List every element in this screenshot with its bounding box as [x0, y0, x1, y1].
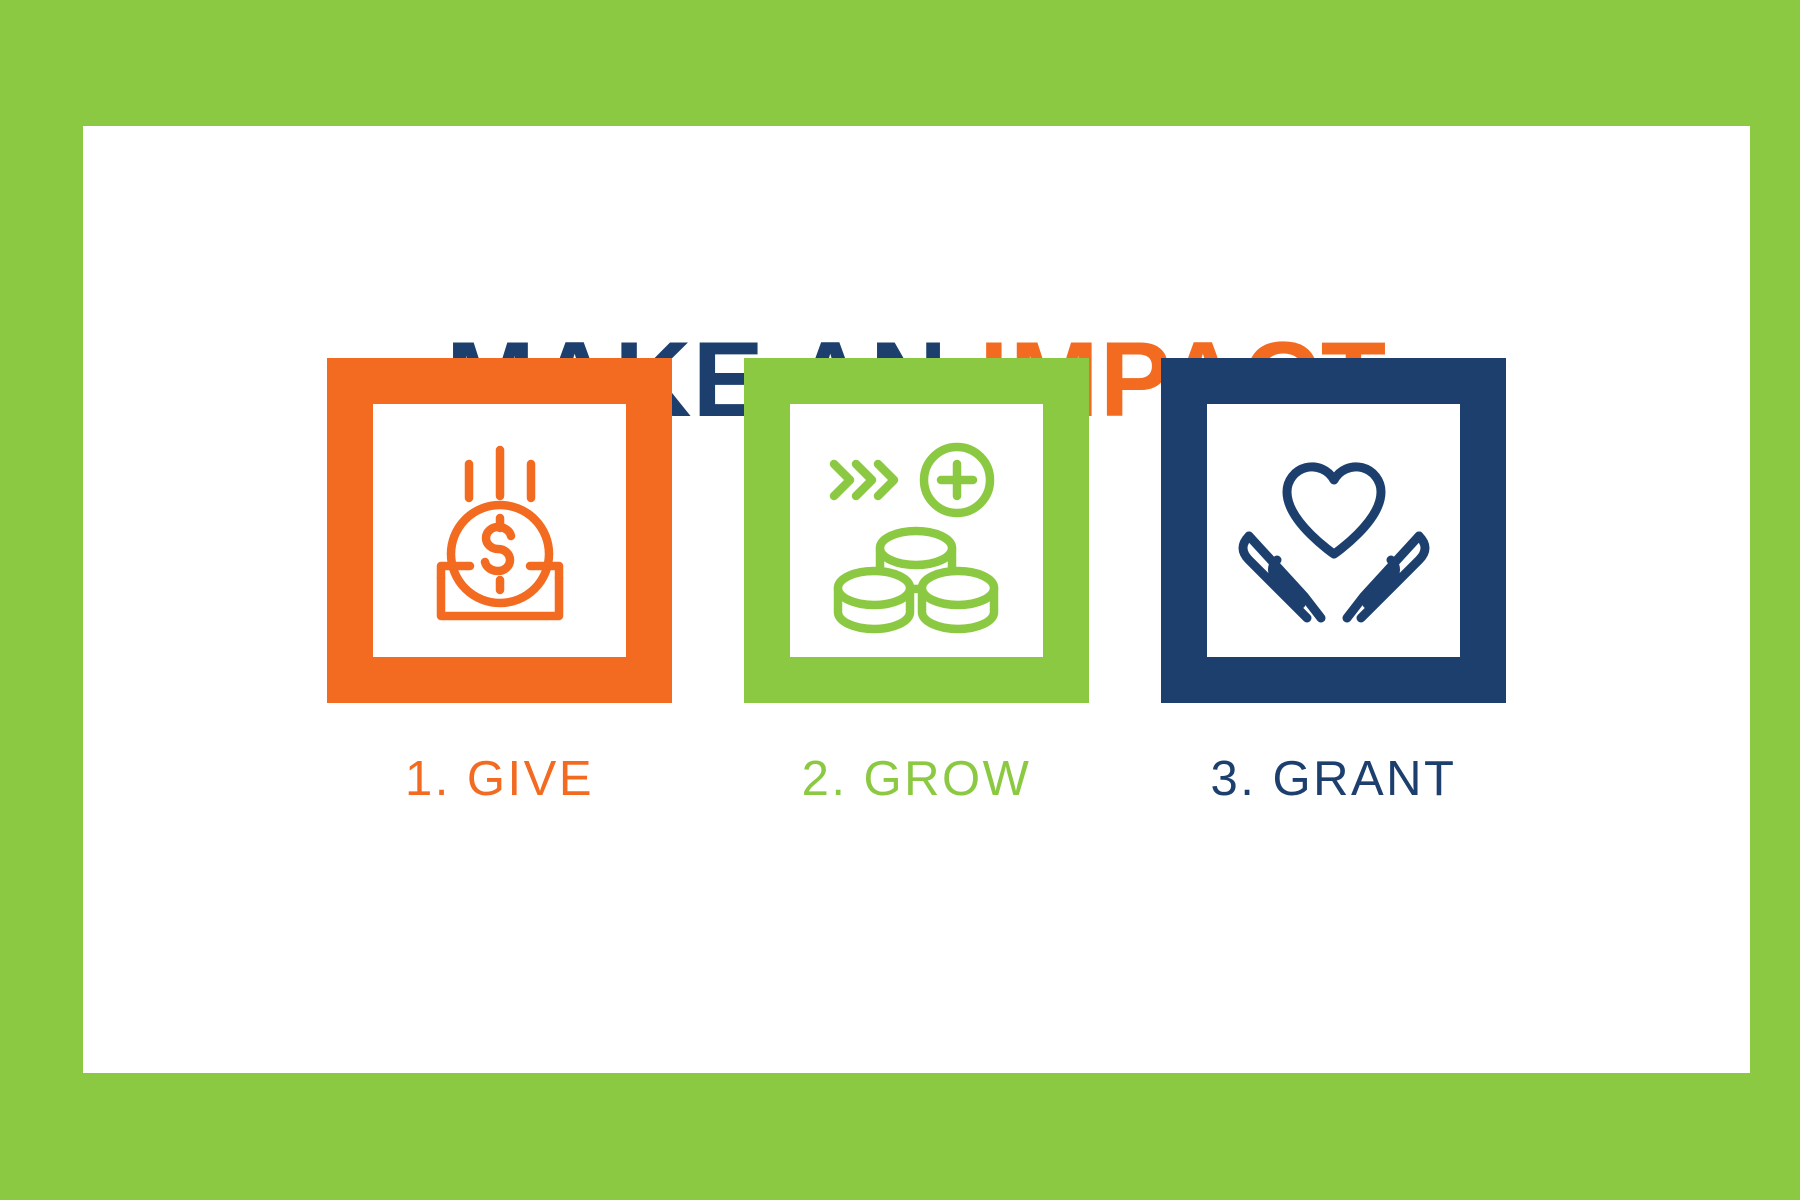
- step-give-icon-inner: [373, 404, 626, 657]
- steps-row: 1. GIVE: [83, 358, 1750, 858]
- step-give-label: 1. GIVE: [405, 755, 594, 804]
- step-grant-icon-inner: [1207, 404, 1460, 657]
- step-give-icon-frame: [327, 358, 672, 703]
- step-grant-label: 3. GRANT: [1211, 755, 1457, 804]
- content-card: MAKE AN IMPACT: [83, 126, 1750, 1073]
- step-grow-icon-frame: [744, 358, 1089, 703]
- step-grant-icon-frame: [1161, 358, 1506, 703]
- step-grow: 2. GROW: [744, 358, 1089, 804]
- step-grow-icon-inner: [790, 404, 1043, 657]
- heart-in-hands-icon: [1229, 426, 1439, 636]
- coin-stack-growth-icon: [812, 426, 1022, 636]
- step-give: 1. GIVE: [327, 358, 672, 804]
- step-grow-label: 2. GROW: [802, 755, 1032, 804]
- coin-deposit-icon: [395, 426, 605, 636]
- step-grant: 3. GRANT: [1161, 358, 1506, 804]
- poster-canvas: MAKE AN IMPACT: [0, 0, 1800, 1200]
